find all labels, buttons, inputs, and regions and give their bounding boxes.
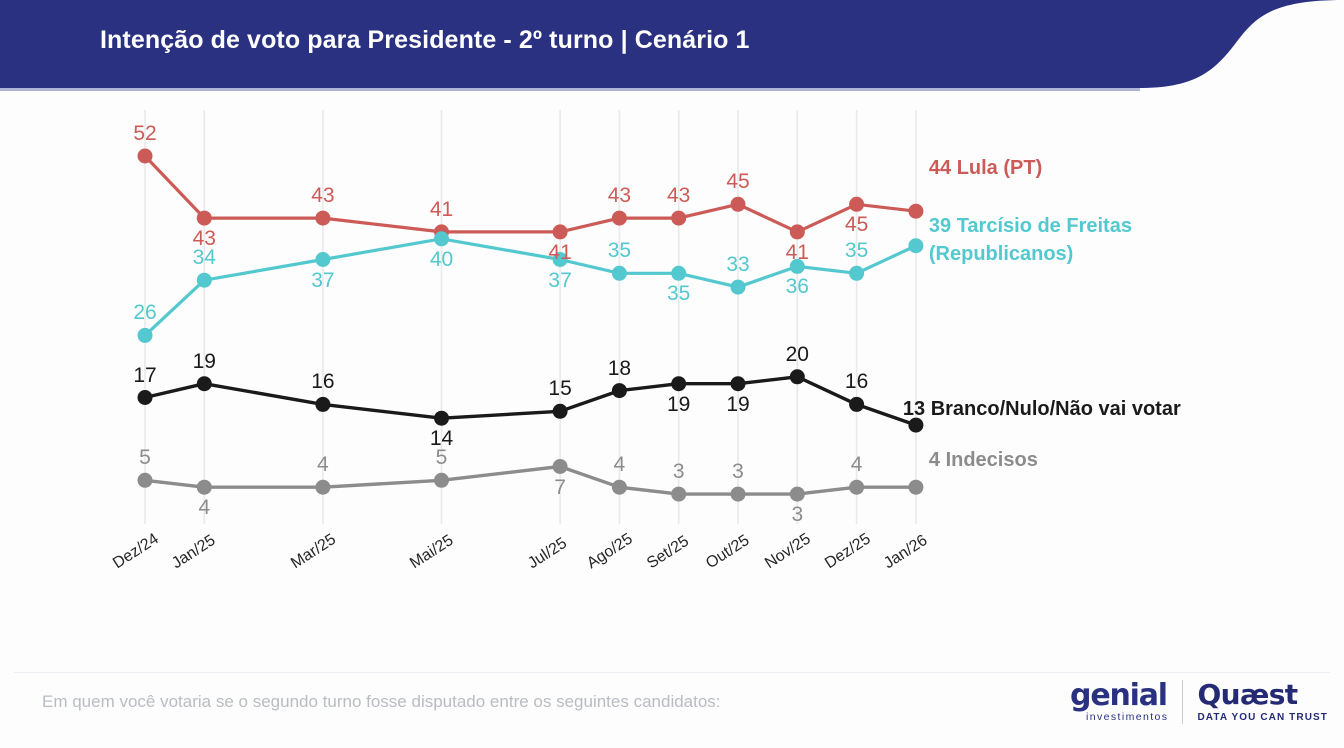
data-point[interactable]: [849, 397, 864, 412]
series-line-2: [145, 377, 916, 425]
data-point[interactable]: [790, 487, 805, 502]
data-point[interactable]: [315, 211, 330, 226]
data-label: 7: [540, 476, 580, 500]
data-point[interactable]: [197, 480, 212, 495]
data-point[interactable]: [612, 211, 627, 226]
data-label: 43: [303, 184, 343, 208]
page-title: Intenção de voto para Presidente - 2º tu…: [100, 26, 750, 55]
data-point[interactable]: [434, 473, 449, 488]
data-label: 35: [837, 239, 877, 263]
data-label: 40: [422, 248, 462, 272]
data-point[interactable]: [315, 252, 330, 267]
data-label: 5: [422, 446, 462, 470]
data-label: 45: [718, 170, 758, 194]
data-label: 36: [777, 275, 817, 299]
data-label: 18: [599, 357, 639, 381]
legend-label-3: 4 Indecisos: [929, 449, 1038, 472]
data-label: 20: [777, 343, 817, 367]
data-label: 26: [125, 301, 165, 325]
footer: Em quem você votaria se o segundo turno …: [0, 672, 1344, 748]
data-label: 15: [540, 377, 580, 401]
data-label: 35: [599, 239, 639, 263]
legend-label-1-line2: (Republicanos): [929, 243, 1132, 266]
quaest-logo-wordmark: Quæst: [1197, 681, 1297, 709]
data-label: 35: [659, 282, 699, 306]
data-label: 45: [837, 213, 877, 237]
chart-container: 5243434141434345414544 Lula (PT)26343740…: [0, 92, 1344, 672]
data-label: 52: [125, 122, 165, 146]
data-point[interactable]: [612, 383, 627, 398]
legend-label-1: 39 Tarcísio de Freitas(Republicanos): [929, 215, 1132, 266]
data-point[interactable]: [908, 480, 923, 495]
data-label: 37: [540, 269, 580, 293]
data-label: 3: [718, 460, 758, 484]
data-point[interactable]: [731, 197, 746, 212]
data-label: 16: [303, 370, 343, 394]
data-label: 19: [184, 350, 224, 374]
data-label: 5: [125, 446, 165, 470]
data-point[interactable]: [553, 404, 568, 419]
logo-separator: [1182, 680, 1183, 724]
data-label: 41: [540, 241, 580, 265]
data-point[interactable]: [138, 328, 153, 343]
data-label: 43: [659, 184, 699, 208]
data-label: 33: [718, 253, 758, 277]
data-point[interactable]: [790, 369, 805, 384]
data-label: 19: [659, 393, 699, 417]
data-label: 4: [599, 453, 639, 477]
header-bar: Intenção de voto para Presidente - 2º tu…: [0, 0, 1344, 92]
data-point[interactable]: [849, 266, 864, 281]
data-point[interactable]: [197, 273, 212, 288]
data-point[interactable]: [197, 211, 212, 226]
data-label: 37: [303, 269, 343, 293]
data-label: 16: [837, 370, 877, 394]
data-point[interactable]: [671, 487, 686, 502]
data-point[interactable]: [731, 280, 746, 295]
genial-logo: genial investimentos: [1070, 681, 1168, 723]
data-point[interactable]: [671, 376, 686, 391]
data-point[interactable]: [908, 238, 923, 253]
slide-root: Intenção de voto para Presidente - 2º tu…: [0, 0, 1344, 748]
footer-divider: [14, 672, 1330, 673]
data-point[interactable]: [849, 197, 864, 212]
data-point[interactable]: [138, 473, 153, 488]
genial-logo-tagline: investimentos: [1086, 712, 1168, 723]
data-point[interactable]: [731, 376, 746, 391]
data-label: 17: [125, 364, 165, 388]
data-point[interactable]: [197, 376, 212, 391]
data-label: 34: [184, 246, 224, 270]
data-label: 43: [599, 184, 639, 208]
data-point[interactable]: [849, 480, 864, 495]
data-point[interactable]: [138, 390, 153, 405]
legend-label-0: 44 Lula (PT): [929, 157, 1042, 180]
data-point[interactable]: [315, 480, 330, 495]
data-point[interactable]: [671, 211, 686, 226]
data-point[interactable]: [612, 480, 627, 495]
survey-question: Em quem você votaria se o segundo turno …: [42, 692, 721, 712]
data-point[interactable]: [553, 224, 568, 239]
data-point[interactable]: [434, 411, 449, 426]
data-label: 41: [422, 198, 462, 222]
data-point[interactable]: [908, 204, 923, 219]
legend-label-2: 13 Branco/Nulo/Não vai votar: [903, 398, 1181, 421]
data-point[interactable]: [553, 459, 568, 474]
series-line-0: [145, 156, 916, 232]
data-point[interactable]: [671, 266, 686, 281]
data-point[interactable]: [790, 224, 805, 239]
data-label: 3: [659, 460, 699, 484]
line-chart: [0, 92, 1344, 672]
quaest-logo: Quæst DATA YOU CAN TRUST: [1197, 681, 1328, 723]
data-label: 3: [777, 503, 817, 527]
data-label: 41: [777, 241, 817, 265]
data-label: 4: [837, 453, 877, 477]
data-point[interactable]: [434, 231, 449, 246]
data-point[interactable]: [315, 397, 330, 412]
data-point[interactable]: [612, 266, 627, 281]
data-point[interactable]: [731, 487, 746, 502]
data-label: 4: [303, 453, 343, 477]
logo-group: genial investimentos Quæst DATA YOU CAN …: [1070, 680, 1328, 724]
data-label: 19: [718, 393, 758, 417]
data-label: 4: [184, 496, 224, 520]
genial-logo-wordmark: genial: [1070, 681, 1167, 711]
legend-label-1-line1: 39 Tarcísio de Freitas: [929, 215, 1132, 238]
data-point[interactable]: [138, 149, 153, 164]
quaest-logo-tagline: DATA YOU CAN TRUST: [1197, 713, 1328, 723]
